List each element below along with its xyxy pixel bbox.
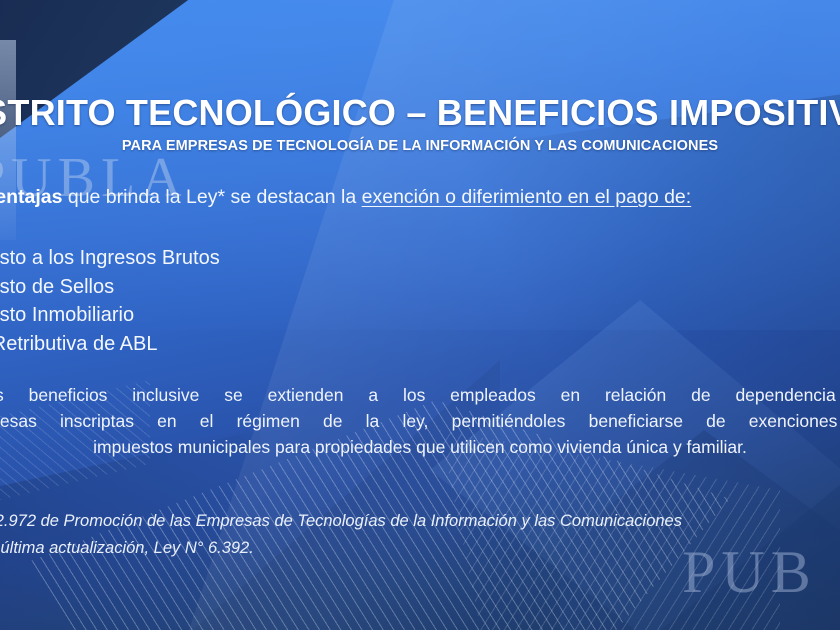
- list-item: Impuesto Inmobiliario: [0, 301, 644, 330]
- slide-subtitle: PARA EMPRESAS DE TECNOLOGÍA DE LA INFORM…: [0, 138, 840, 154]
- paragraph-line: impuestos municipales para propiedades q…: [0, 434, 840, 460]
- lead-text-underlined: exención o diferimiento en el pago de:: [362, 186, 692, 208]
- list-item: Tasa Retributiva de ABL: [0, 330, 644, 359]
- list-item: Impuesto de Sellos: [0, 273, 644, 302]
- benefits-list: Impuesto a los Ingresos Brutos Impuesto …: [0, 244, 644, 358]
- footnote-line: *Ley N° 2.972 de Promoción de las Empres…: [0, 508, 840, 535]
- footnote: *Ley N° 2.972 de Promoción de las Empres…: [0, 508, 840, 562]
- lead-text-middle: que brinda la Ley* se destacan la: [62, 186, 361, 208]
- body-paragraph: Estos beneficios inclusive se extienden …: [0, 382, 840, 460]
- lead-text-emphasis: ventajas: [0, 186, 62, 208]
- paragraph-line: Estos beneficios inclusive se extienden …: [0, 382, 840, 408]
- lead-paragraph: Entre las ventajas que brinda la Ley* se…: [0, 186, 840, 209]
- paragraph-line: empresas inscriptas en el régimen de la …: [0, 408, 840, 434]
- presentation-slide: PUBLA PUB DISTRITO TECNOLÓGICO – BENEFIC…: [0, 0, 840, 630]
- list-item: Impuesto a los Ingresos Brutos: [0, 244, 644, 273]
- footnote-line: (2008) + última actualización, Ley N° 6.…: [0, 535, 840, 562]
- slide-title: DISTRITO TECNOLÓGICO – BENEFICIOS IMPOSI…: [0, 92, 840, 134]
